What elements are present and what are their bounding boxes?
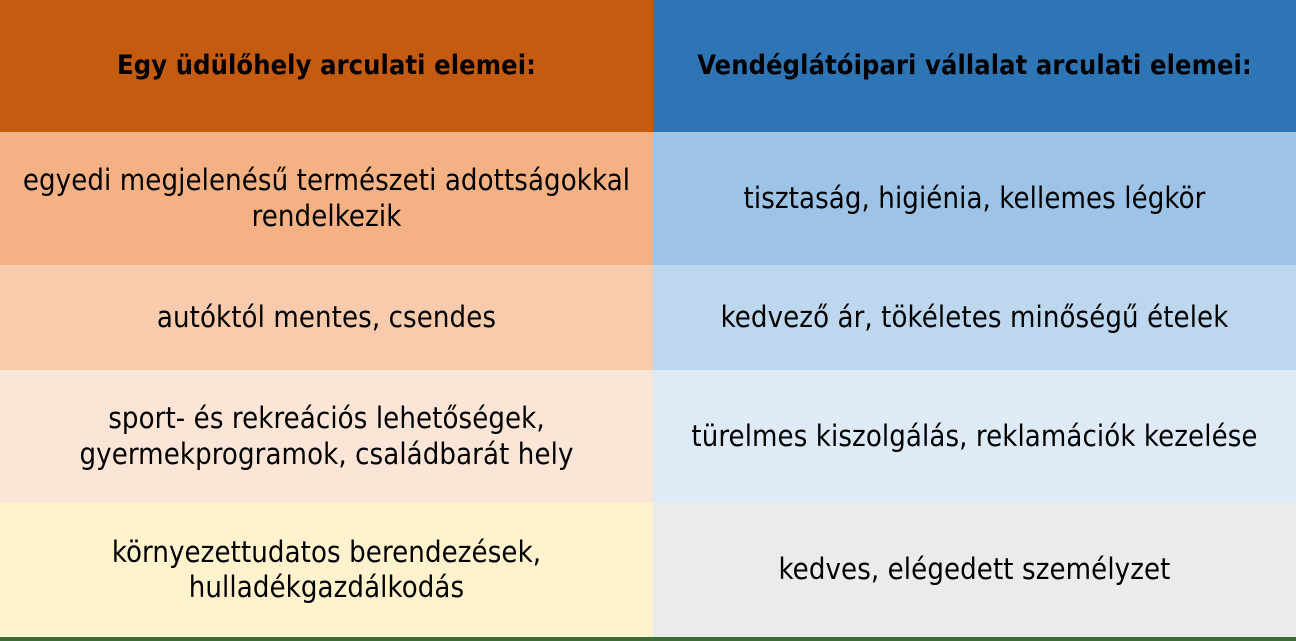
bottom-rule <box>0 637 1296 641</box>
cell-restaurant-1: tisztaság, higiénia, kellemes légkör <box>653 132 1296 265</box>
table-row: autóktól mentes, csendes kedvező ár, tök… <box>0 265 1296 370</box>
table-row: környezettudatos berendezések, hulladékg… <box>0 503 1296 637</box>
cell-restaurant-2: kedvező ár, tökéletes minőségű ételek <box>653 265 1296 370</box>
header-cell-resort: Egy üdülőhely arculati elemei: <box>0 0 653 132</box>
header-cell-restaurant: Vendéglátóipari vállalat arculati elemei… <box>653 0 1296 132</box>
table-row: egyedi megjelenésű természeti adottságok… <box>0 132 1296 265</box>
cell-resort-2: autóktól mentes, csendes <box>0 265 653 370</box>
table-row: sport- és rekreációs lehetőségek, gyerme… <box>0 370 1296 503</box>
comparison-table: Egy üdülőhely arculati elemei: Vendéglát… <box>0 0 1296 641</box>
cell-resort-4: környezettudatos berendezések, hulladékg… <box>0 503 653 637</box>
cell-resort-1: egyedi megjelenésű természeti adottságok… <box>0 132 653 265</box>
cell-resort-3: sport- és rekreációs lehetőségek, gyerme… <box>0 370 653 503</box>
cell-restaurant-3: türelmes kiszolgálás, reklamációk kezelé… <box>653 370 1296 503</box>
table-header-row: Egy üdülőhely arculati elemei: Vendéglát… <box>0 0 1296 132</box>
cell-restaurant-4: kedves, elégedett személyzet <box>653 503 1296 637</box>
